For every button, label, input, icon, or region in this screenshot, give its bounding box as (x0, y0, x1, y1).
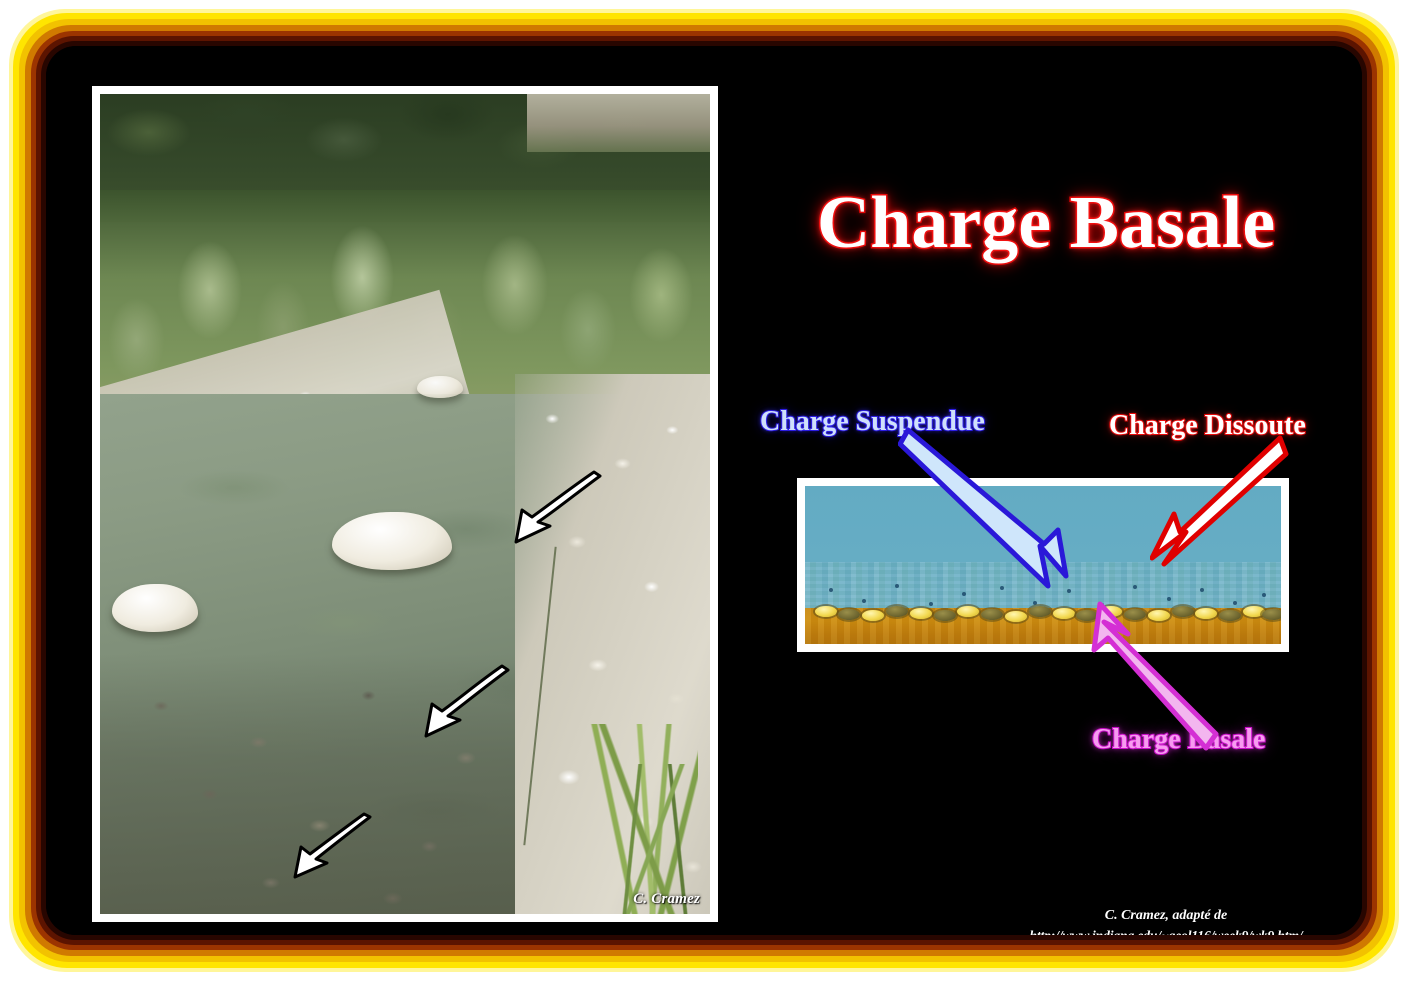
river-photo: C. Cramez (100, 94, 710, 914)
photo-boulder-small (417, 376, 463, 398)
photo-boulder-center (332, 512, 452, 570)
photo-frame: C. Cramez (92, 86, 718, 922)
diagram-bedload-pebbles (805, 595, 1281, 617)
photo-boulder-left (112, 584, 198, 632)
credit-line-1: C. Cramez, adapté de (986, 906, 1346, 926)
stream-load-diagram (805, 486, 1281, 644)
flow-arrow-2-icon (420, 664, 516, 744)
label-charge-suspendue: Charge Suspendue (760, 406, 985, 438)
page-title: Charge Basale (746, 186, 1346, 260)
diagram-frame (797, 478, 1289, 652)
photo-sky (527, 94, 710, 152)
flow-arrow-1-icon (508, 470, 608, 550)
photo-watermark: C. Cramez (633, 891, 700, 908)
slide-root: C. Cramez Charge Basale Charge Suspendue… (0, 0, 1408, 981)
label-charge-dissoute: Charge Dissoute (1109, 410, 1306, 442)
slide-canvas: C. Cramez Charge Basale Charge Suspendue… (46, 46, 1362, 935)
flow-arrow-3-icon (290, 812, 376, 884)
source-credit: C. Cramez, adapté de http://www.indiana.… (986, 906, 1346, 935)
label-charge-basale: Charge Basale (1092, 724, 1265, 756)
credit-line-2: http://www.indiana.edu/~geol116/week9/wk… (986, 926, 1346, 935)
